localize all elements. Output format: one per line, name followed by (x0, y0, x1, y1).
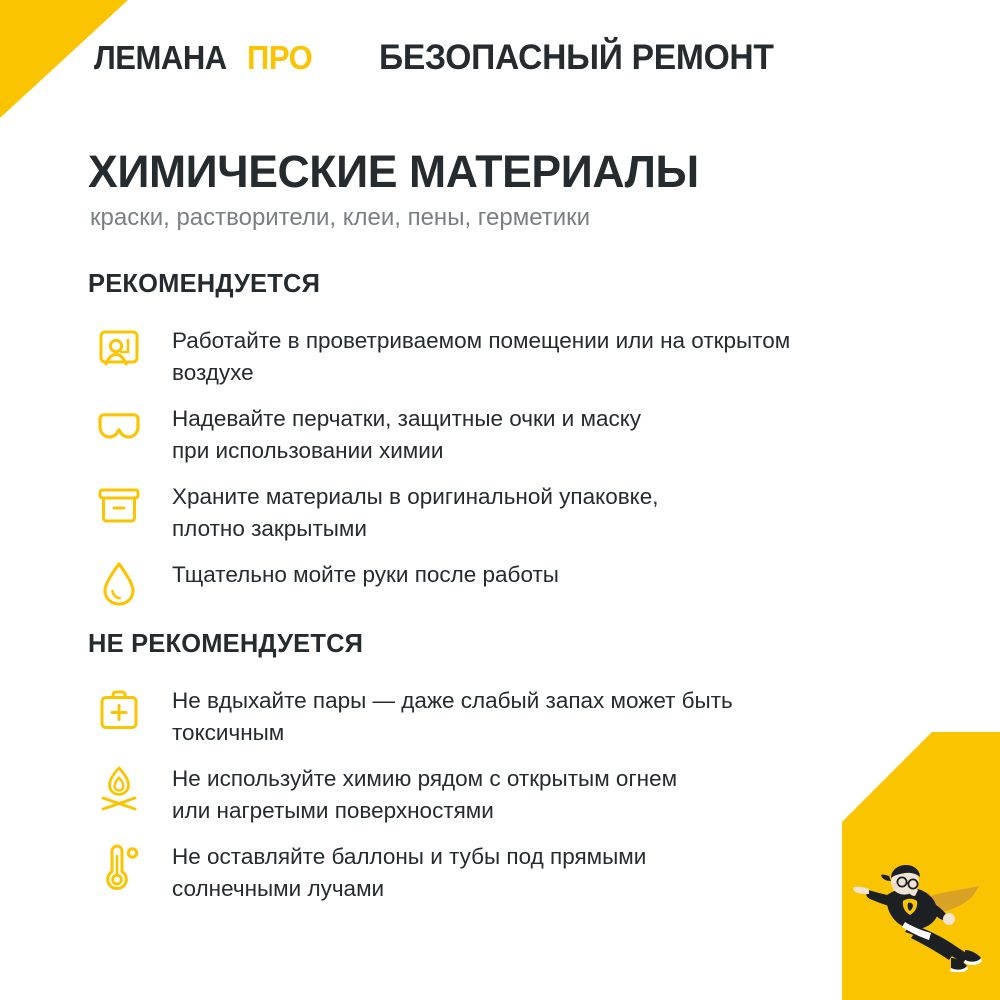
header: ЛЕМАНА ПРО БЕЗОПАСНЫЙ РЕМОНТ (94, 38, 790, 78)
poster-canvas: ЛЕМАНА ПРО БЕЗОПАСНЫЙ РЕМОНТ ХИМИЧЕСКИЕ … (0, 0, 1000, 1000)
list-item-text: Не вдыхайте пары — даже слабый запах мож… (172, 681, 908, 749)
list-item: Не используйте химию рядом с открытым ог… (88, 759, 908, 827)
storage-box-icon (88, 477, 150, 535)
header-tagline: БЕЗОПАСНЫЙ РЕМОНТ (379, 38, 774, 78)
water-drop-icon (88, 555, 150, 613)
ventilated-room-icon (88, 321, 150, 379)
list-item-text: Не используйте химию рядом с открытым ог… (172, 759, 908, 827)
recommended-list: Работайте в проветриваемом помещении или… (88, 321, 908, 617)
thermometer-icon (88, 837, 150, 895)
list-item: Не оставляйте баллоны и тубы под прямыми… (88, 837, 908, 905)
list-item: Не вдыхайте пары — даже слабый запах мож… (88, 681, 908, 749)
open-flame-icon (88, 759, 150, 817)
list-item-text: Работайте в проветриваемом помещении или… (172, 321, 908, 389)
section-not-recommended: НЕ РЕКОМЕНДУЕТСЯ Не вдыхайте пары — даже… (88, 628, 908, 915)
list-item-text: Тщательно мойте руки после работы (172, 555, 908, 591)
brand-logo-primary: ЛЕМАНА (94, 39, 227, 77)
brand-logo: ЛЕМАНА ПРО (94, 39, 317, 77)
first-aid-kit-icon (88, 681, 150, 739)
page-title: ХИМИЧЕСКИЕ МАТЕРИАЛЫ (88, 146, 699, 198)
safety-goggles-icon (88, 399, 150, 457)
list-item-text: Надевайте перчатки, защитные очки и маск… (172, 399, 908, 467)
list-item: Тщательно мойте руки после работы (88, 555, 908, 617)
section-heading-not-recommended: НЕ РЕКОМЕНДУЕТСЯ (88, 628, 892, 659)
brand-logo-secondary: ПРО (247, 39, 312, 77)
list-item: Храните материалы в оригинальной упаковк… (88, 477, 908, 545)
flying-superhero-mascot (845, 862, 995, 972)
list-item: Работайте в проветриваемом помещении или… (88, 321, 908, 389)
list-item: Надевайте перчатки, защитные очки и маск… (88, 399, 908, 467)
not-recommended-list: Не вдыхайте пары — даже слабый запах мож… (88, 681, 908, 905)
list-item-text: Не оставляйте баллоны и тубы под прямыми… (172, 837, 908, 905)
list-item-text: Храните материалы в оригинальной упаковк… (172, 477, 908, 545)
page-subtitle: краски, растворители, клеи, пены, гермет… (90, 204, 590, 232)
section-recommended: РЕКОМЕНДУЕТСЯ Работайте в проветриваемом… (88, 268, 908, 627)
section-heading-recommended: РЕКОМЕНДУЕТСЯ (88, 268, 892, 299)
